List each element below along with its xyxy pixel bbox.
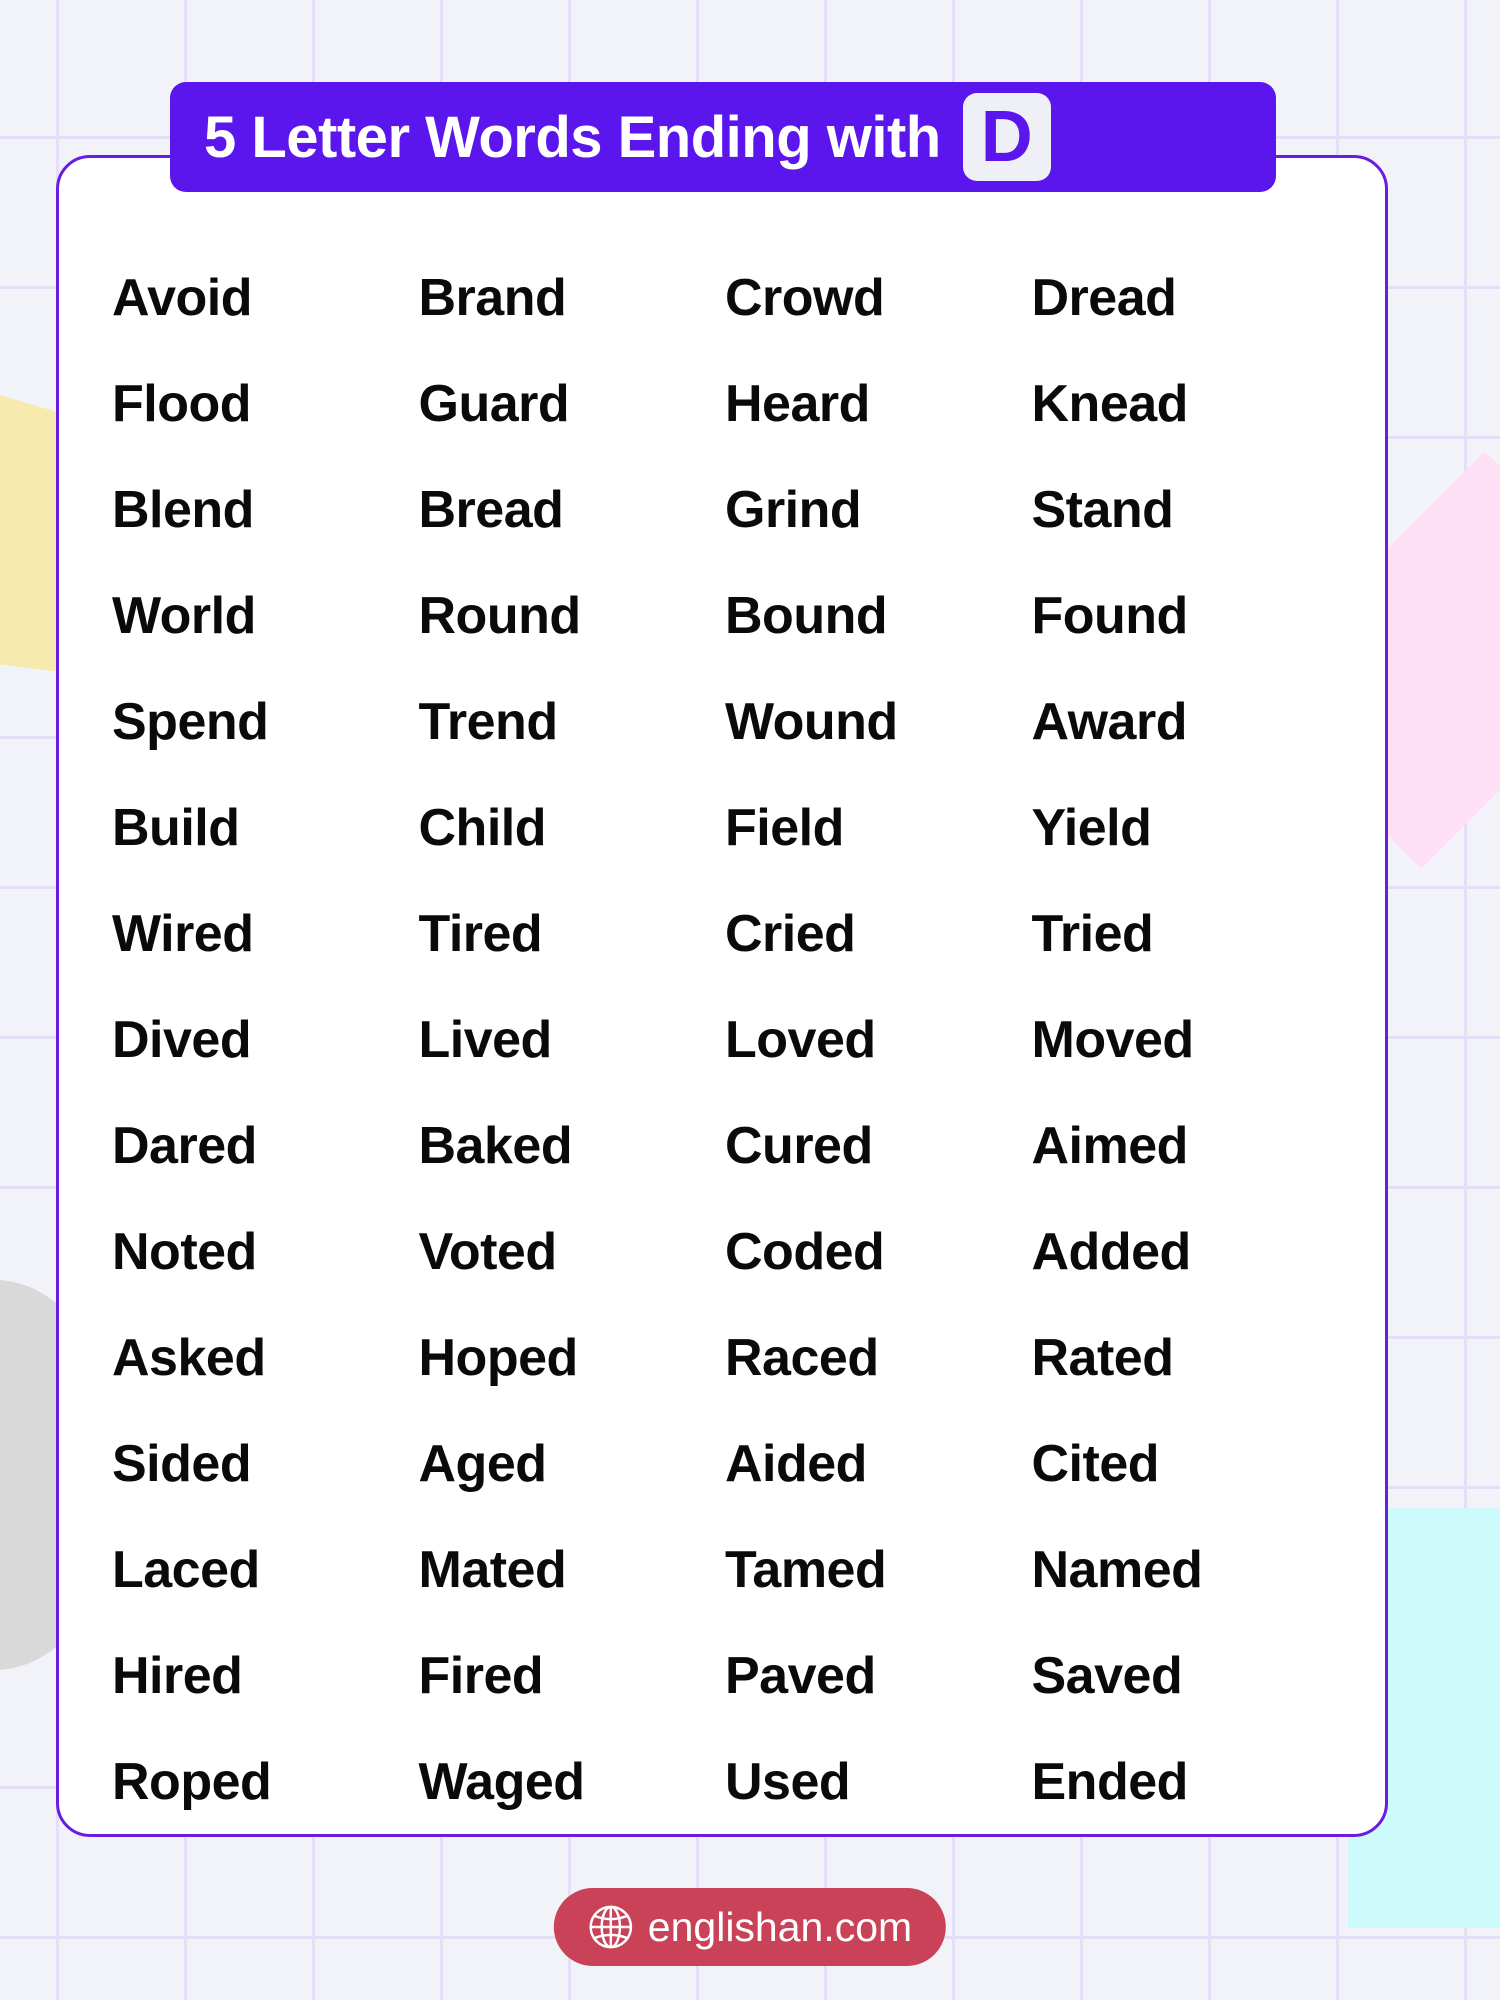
word-item: Spend (112, 669, 419, 775)
site-url: englishan.com (648, 1904, 912, 1951)
word-item: Fired (419, 1623, 726, 1729)
word-item: Tried (1032, 881, 1339, 987)
word-item: Aimed (1032, 1093, 1339, 1199)
title-banner: 5 Letter Words Ending with D (170, 82, 1276, 192)
word-item: Voted (419, 1199, 726, 1305)
word-item: Baked (419, 1093, 726, 1199)
word-item: Brand (419, 245, 726, 351)
word-item: Grind (725, 457, 1032, 563)
word-item: Dived (112, 987, 419, 1093)
word-item: Blend (112, 457, 419, 563)
word-item: Crowd (725, 245, 1032, 351)
globe-icon (588, 1904, 634, 1950)
word-item: Found (1032, 563, 1339, 669)
word-item: Wound (725, 669, 1032, 775)
letter-badge: D (963, 93, 1051, 181)
word-item: Hired (112, 1623, 419, 1729)
word-item: Laced (112, 1517, 419, 1623)
word-item: Paved (725, 1623, 1032, 1729)
word-item: Cried (725, 881, 1032, 987)
word-item: Coded (725, 1199, 1032, 1305)
word-item: Roped (112, 1729, 419, 1835)
word-item: Flood (112, 351, 419, 457)
word-item: Raced (725, 1305, 1032, 1411)
word-item: World (112, 563, 419, 669)
word-item: Named (1032, 1517, 1339, 1623)
word-item: Tired (419, 881, 726, 987)
word-item: Asked (112, 1305, 419, 1411)
word-item: Field (725, 775, 1032, 881)
word-item: Dared (112, 1093, 419, 1199)
word-item: Dread (1032, 245, 1339, 351)
word-item: Moved (1032, 987, 1339, 1093)
word-item: Tamed (725, 1517, 1032, 1623)
word-item: Knead (1032, 351, 1339, 457)
word-item: Heard (725, 351, 1032, 457)
word-item: Guard (419, 351, 726, 457)
word-item: Child (419, 775, 726, 881)
word-item: Cured (725, 1093, 1032, 1199)
site-badge[interactable]: englishan.com (554, 1888, 946, 1966)
word-item: Build (112, 775, 419, 881)
word-item: Noted (112, 1199, 419, 1305)
word-item: Used (725, 1729, 1032, 1835)
word-item: Bread (419, 457, 726, 563)
word-item: Loved (725, 987, 1032, 1093)
page-title: 5 Letter Words Ending with (204, 104, 941, 171)
word-item: Award (1032, 669, 1339, 775)
word-item: Yield (1032, 775, 1339, 881)
word-item: Waged (419, 1729, 726, 1835)
word-item: Aged (419, 1411, 726, 1517)
word-item: Trend (419, 669, 726, 775)
word-item: Cited (1032, 1411, 1339, 1517)
word-item: Wired (112, 881, 419, 987)
word-grid: AvoidBrandCrowdDreadFloodGuardHeardKnead… (56, 245, 1388, 1835)
word-item: Hoped (419, 1305, 726, 1411)
word-item: Stand (1032, 457, 1339, 563)
word-item: Added (1032, 1199, 1339, 1305)
word-item: Bound (725, 563, 1032, 669)
word-item: Round (419, 563, 726, 669)
word-item: Saved (1032, 1623, 1339, 1729)
word-item: Sided (112, 1411, 419, 1517)
word-item: Ended (1032, 1729, 1339, 1835)
word-item: Lived (419, 987, 726, 1093)
word-item: Rated (1032, 1305, 1339, 1411)
word-item: Avoid (112, 245, 419, 351)
word-item: Aided (725, 1411, 1032, 1517)
word-item: Mated (419, 1517, 726, 1623)
